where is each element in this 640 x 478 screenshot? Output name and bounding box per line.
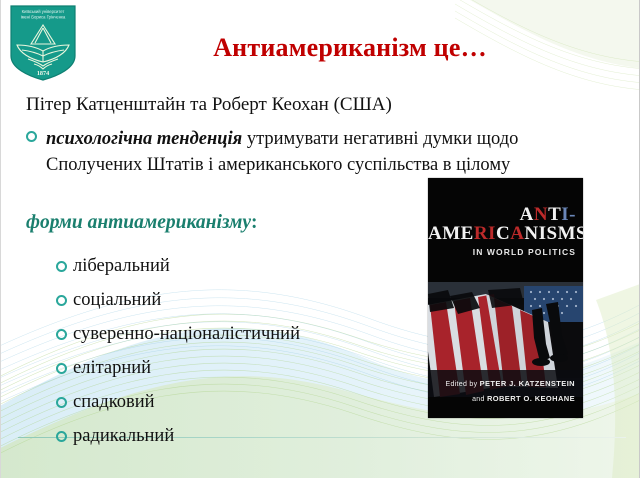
book-title: ANTI- AMERICANISMS IN WORLD POLITICS	[428, 206, 576, 256]
bullet-ring-icon	[26, 131, 37, 142]
definition-emphasis: психологічна тенденція	[46, 129, 242, 149]
list-item-label: ліберальний	[73, 256, 170, 276]
presentation-slide: Київський університет імені Бориса Грінч…	[0, 0, 640, 478]
list-item: елітарний	[56, 351, 456, 385]
bullet-ring-icon	[56, 431, 67, 442]
book-editor-1: PETER J. KATZENSTEIN	[480, 379, 575, 388]
definition-bullet: психологічна тенденція утримувати негати…	[26, 126, 586, 179]
slide-left-border	[0, 0, 1, 478]
forms-list: ліберальний соціальний суверенно-націона…	[56, 249, 456, 453]
logo-line2: імені Бориса Грінченка	[21, 15, 66, 20]
book-credit-prefix2: and	[472, 396, 485, 403]
book-subtitle: IN WORLD POLITICS	[428, 248, 576, 256]
authors-line: Пітер Катценштайн та Роберт Кеохан (США)	[26, 93, 496, 117]
list-item: спадковий	[56, 385, 456, 419]
list-item: суверенно-націоналістичний	[56, 317, 456, 351]
book-credit-prefix1: Edited by	[445, 381, 477, 388]
bullet-ring-icon	[56, 363, 67, 374]
logo-year: 1874	[37, 70, 49, 77]
list-item: радикальний	[56, 419, 456, 453]
logo-line1: Київський університет	[22, 9, 65, 14]
bullet-ring-icon	[56, 295, 67, 306]
bullet-ring-icon	[56, 261, 67, 272]
book-credit-line2: and ROBERT O. KEOHANE	[445, 392, 575, 406]
forms-heading-colon: :	[251, 212, 258, 233]
list-item: соціальний	[56, 283, 456, 317]
bullet-ring-icon	[56, 397, 67, 408]
list-item: ліберальний	[56, 249, 456, 283]
bullet-ring-icon	[56, 329, 67, 340]
list-item-label: соціальний	[73, 290, 161, 310]
forms-heading-text: форми антиамериканізму	[26, 212, 251, 233]
book-credits: Edited by PETER J. KATZENSTEIN and ROBER…	[445, 377, 575, 406]
university-logo: Київський університет імені Бориса Грінч…	[8, 4, 78, 82]
book-credit-line1: Edited by PETER J. KATZENSTEIN	[445, 377, 575, 391]
list-item-label: елітарний	[73, 358, 151, 378]
list-item-label: суверенно-націоналістичний	[73, 324, 300, 344]
book-title-line1: ANTI-	[428, 206, 576, 224]
book-cover-image: ANTI- AMERICANISMS IN WORLD POLITICS	[428, 178, 583, 418]
list-item-label: спадковий	[73, 392, 155, 412]
book-editor-2: ROBERT O. KEOHANE	[487, 394, 575, 403]
forms-heading: форми антиамериканізму:	[26, 212, 258, 234]
definition-text: психологічна тенденція утримувати негати…	[46, 126, 586, 179]
list-item-label: радикальний	[73, 426, 174, 446]
book-title-line2: AMERICANISMS	[428, 225, 576, 243]
